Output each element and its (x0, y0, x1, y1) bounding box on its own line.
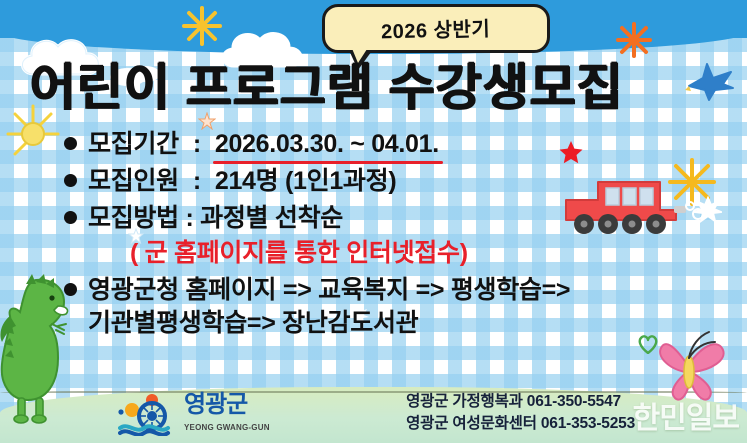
list-item-capacity: 모집인원:214명 (1인1과정) (64, 165, 704, 198)
contact-line-1: 영광군 가정행복과 061-350-5547 (406, 391, 635, 413)
contact-block: 영광군 가정행복과 061-350-5547 영광군 여성문화센터 061-35… (406, 391, 635, 435)
butterfly-icon (643, 326, 739, 409)
period-separator: : (193, 130, 201, 158)
capacity-value: 214명 (1인1과정) (215, 167, 397, 195)
contact-line-2: 영광군 여성문화센터 061-353-5253 (406, 413, 635, 435)
capacity-label: 모집인원 (88, 167, 179, 195)
period-value: 2026.03.30. ~ 04.01. (215, 128, 439, 161)
list-item-path: 영광군청 홈페이지 => 교육복지 => 평생학습=> (64, 274, 704, 307)
path-line-2: 기관별평생학습=> 장난감도서관 (88, 307, 704, 340)
logo-text-group: 영광군 YEONG GWANG-GUN (184, 393, 270, 435)
logo-english-name: YEONG GWANG-GUN (184, 423, 270, 432)
page-title-text: 어린이 프로그램 수강생모집 (30, 62, 624, 112)
logo-emblem-icon (118, 392, 180, 436)
info-list: 모집기간:2026.03.30. ~ 04.01. 모집인원:214명 (1인1… (64, 128, 704, 340)
yeonggwang-gun-logo: 영광군 YEONG GWANG-GUN (118, 389, 288, 439)
bullet-icon (64, 174, 77, 187)
period-label: 모집기간 (88, 130, 179, 158)
bullet-icon (64, 137, 77, 150)
season-badge-label: 2026 상반기 (381, 13, 491, 45)
method-label: 모집방법 : 과정별 선착순 (88, 202, 343, 235)
bullet-icon (64, 211, 77, 224)
method-note: ( 군 홈페이지를 통한 인터넷접수) (130, 237, 704, 270)
poster-canvas: 2026 상반기 어린이 프로그램 수강생모집 모집기간:2026.03.30.… (0, 0, 747, 443)
logo-korean-name: 영광군 (184, 391, 247, 418)
capacity-separator: : (193, 167, 201, 195)
list-item-method: 모집방법 : 과정별 선착순 (64, 202, 704, 235)
bird-icon (683, 58, 739, 109)
page-title: 어린이 프로그램 수강생모집 (30, 56, 690, 118)
list-item-period: 모집기간:2026.03.30. ~ 04.01. (64, 128, 704, 161)
star-red-icon (558, 140, 584, 171)
bullet-icon (64, 283, 77, 296)
path-line-1: 영광군청 홈페이지 => 교육복지 => 평생학습=> (88, 274, 570, 307)
